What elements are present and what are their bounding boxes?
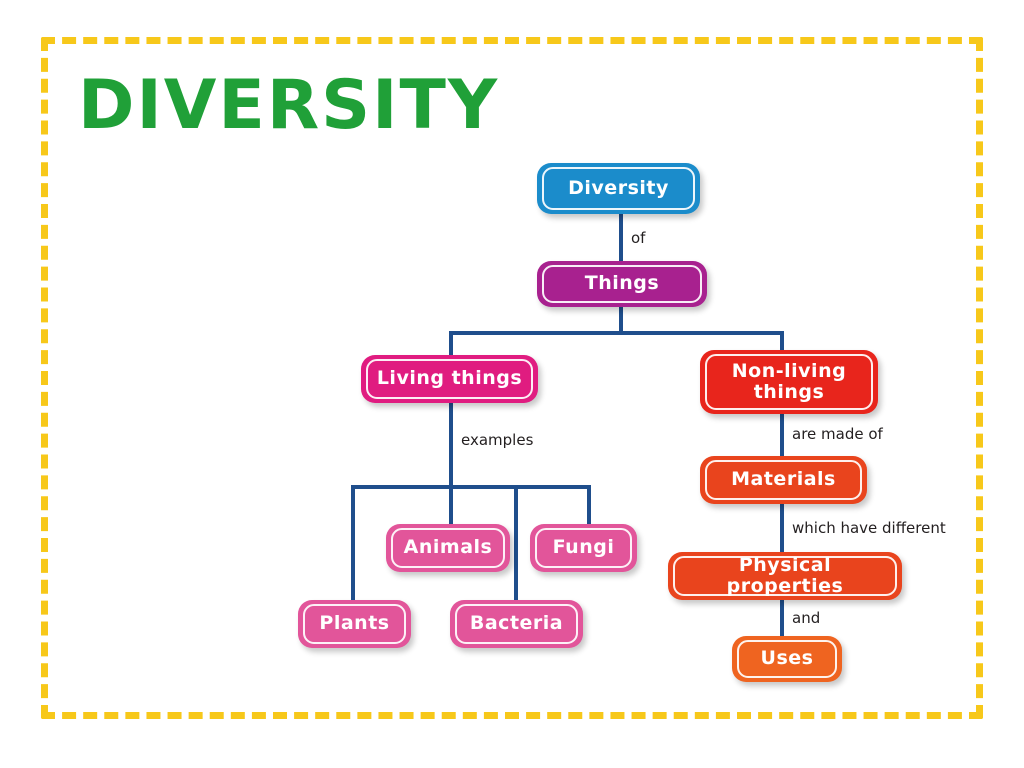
node-plants[interactable]: Plants (298, 600, 411, 648)
connector-living-bus (351, 485, 591, 489)
connector-label-which-have-different: which have different (792, 521, 946, 536)
diagram-canvas: DIVERSITY of examples are made of which … (0, 0, 1024, 768)
connector-bus-to-fungi (587, 485, 591, 527)
node-animals[interactable]: Animals (386, 524, 510, 572)
connector-label-and: and (792, 611, 820, 626)
connector-diversity-things (619, 213, 623, 265)
connector-living-down (449, 403, 453, 489)
node-bacteria[interactable]: Bacteria (450, 600, 583, 648)
node-diversity-label: Diversity (554, 178, 683, 199)
connector-bus-to-animals (449, 485, 453, 527)
connector-label-are-made-of: are made of (792, 427, 883, 442)
connector-bus-to-plants (351, 485, 355, 602)
connector-materials-physical (780, 503, 784, 555)
node-non-living-things-label: Non-living things (700, 361, 878, 404)
connector-nonliving-materials (780, 412, 784, 458)
node-things-label: Things (571, 273, 673, 294)
connector-label-examples: examples (461, 433, 533, 448)
node-fungi-label: Fungi (539, 537, 629, 558)
node-materials[interactable]: Materials (700, 456, 867, 504)
page-title: DIVERSITY (78, 72, 499, 140)
node-physical-properties[interactable]: Physical properties (668, 552, 902, 600)
node-fungi[interactable]: Fungi (530, 524, 637, 572)
node-materials-label: Materials (717, 469, 850, 490)
node-bacteria-label: Bacteria (456, 613, 577, 634)
node-things[interactable]: Things (537, 261, 707, 307)
node-non-living-things[interactable]: Non-living things (700, 350, 878, 414)
connector-bus-to-bacteria (514, 485, 518, 602)
node-uses[interactable]: Uses (732, 636, 842, 682)
node-physical-properties-label: Physical properties (668, 555, 902, 598)
node-living-things[interactable]: Living things (361, 355, 538, 403)
node-plants-label: Plants (305, 613, 403, 634)
node-diversity[interactable]: Diversity (537, 163, 700, 214)
connector-things-bus (449, 331, 784, 335)
node-uses-label: Uses (747, 648, 828, 669)
connector-label-of: of (631, 231, 645, 246)
node-animals-label: Animals (390, 537, 507, 558)
connector-physical-uses (780, 598, 784, 638)
node-living-things-label: Living things (363, 368, 536, 389)
